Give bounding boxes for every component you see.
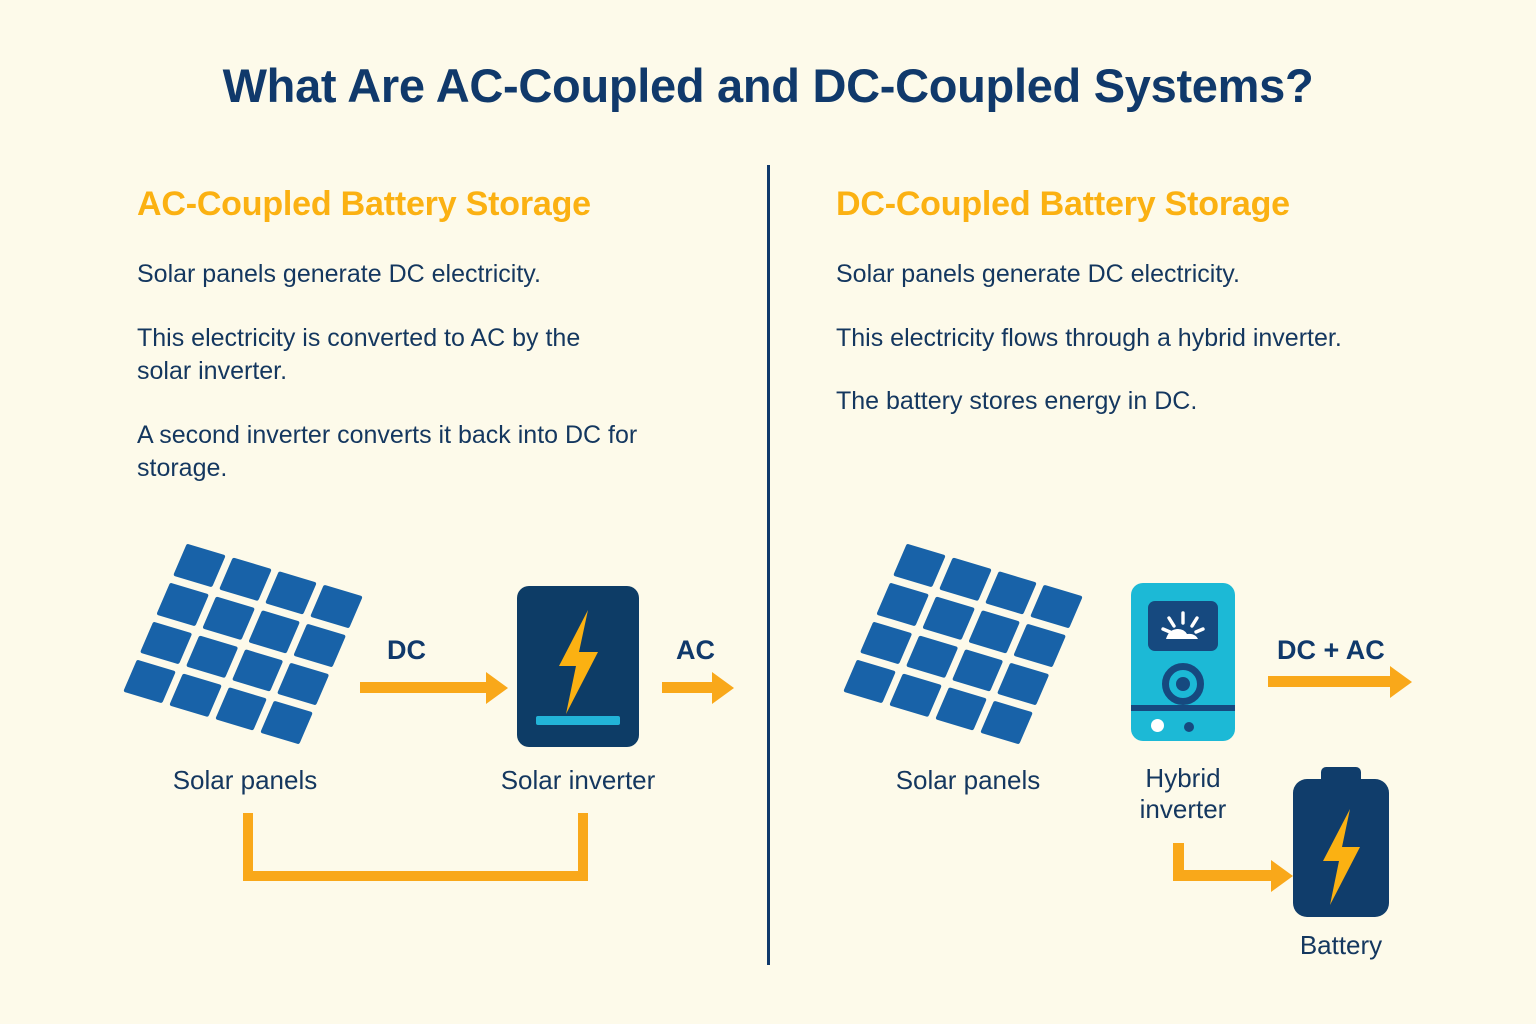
ac-solar-panel-icon xyxy=(155,570,331,718)
inverter-divider-line xyxy=(1131,705,1235,711)
ac-paragraph-2: This electricity is converted to AC by t… xyxy=(137,322,637,389)
lightning-bolt-icon xyxy=(1314,809,1368,905)
ac-paragraph-1: Solar panels generate DC electricity. xyxy=(137,258,657,292)
solar-cell xyxy=(1014,624,1066,667)
solar-cell xyxy=(922,596,974,639)
sun-icon xyxy=(1148,601,1218,651)
solar-cell xyxy=(985,571,1037,614)
solar-cell xyxy=(877,582,929,625)
hybrid-inverter-label: Hybrid inverter xyxy=(1083,763,1283,825)
hybrid-inverter-icon xyxy=(1131,583,1235,741)
ac-feedback-bracket xyxy=(243,813,588,883)
solar-cell xyxy=(140,621,192,664)
dc-paragraph-2: This electricity flows through a hybrid … xyxy=(836,322,1388,356)
dc-column-heading: DC-Coupled Battery Storage xyxy=(836,185,1436,224)
solar-cell xyxy=(980,701,1032,744)
inverter-indicator-light-on xyxy=(1151,719,1164,732)
column-divider xyxy=(767,165,770,965)
dc-paragraph-1: Solar panels generate DC electricity. xyxy=(836,258,1356,292)
battery-icon xyxy=(1293,767,1389,917)
solar-cell xyxy=(843,660,895,703)
dc-flow-label: DC + AC xyxy=(1277,635,1385,666)
inverter-status-bar xyxy=(536,716,620,725)
solar-cell xyxy=(294,624,346,667)
solar-cell xyxy=(1030,585,1082,628)
lightning-bolt-icon xyxy=(549,610,607,714)
solar-cell xyxy=(997,662,1049,705)
solar-cell xyxy=(202,596,254,639)
dc-paragraph-3: The battery stores energy in DC. xyxy=(836,385,1356,419)
solar-cell xyxy=(265,571,317,614)
solar-cell xyxy=(939,557,991,600)
ac-column-heading: AC-Coupled Battery Storage xyxy=(137,185,737,224)
solar-cell xyxy=(169,674,221,717)
solar-cell xyxy=(248,610,300,653)
inverter-dial-icon xyxy=(1162,663,1204,705)
solar-cell xyxy=(157,582,209,625)
solar-cell xyxy=(893,544,945,587)
solar-cell xyxy=(173,544,225,587)
inverter-indicator-light-off xyxy=(1184,722,1194,732)
ac-flow-label-dc: DC xyxy=(387,635,426,666)
solar-cell xyxy=(968,610,1020,653)
solar-cell xyxy=(889,674,941,717)
dc-arrow-to-battery xyxy=(1173,843,1303,893)
solar-cell xyxy=(860,621,912,664)
solar-cell xyxy=(123,660,175,703)
battery-label: Battery xyxy=(1241,930,1441,961)
solar-cell xyxy=(231,649,283,692)
solar-cell xyxy=(277,662,329,705)
ac-paragraph-3: A second inverter converts it back into … xyxy=(137,419,652,486)
solar-cell xyxy=(310,585,362,628)
solar-cell xyxy=(186,635,238,678)
solar-cell xyxy=(219,557,271,600)
solar-cell xyxy=(260,701,312,744)
ac-coupled-column: AC-Coupled Battery Storage Solar panels … xyxy=(137,185,737,486)
solar-inverter-label: Solar inverter xyxy=(470,765,686,796)
dc-coupled-column: DC-Coupled Battery Storage Solar panels … xyxy=(836,185,1436,419)
solar-inverter-icon xyxy=(517,586,639,747)
inverter-display-screen xyxy=(1148,601,1218,651)
page-title: What Are AC-Coupled and DC-Coupled Syste… xyxy=(0,58,1536,113)
ac-solar-panels-label: Solar panels xyxy=(145,765,345,796)
solar-cell xyxy=(215,687,267,730)
ac-flow-label-ac: AC xyxy=(676,635,715,666)
solar-cell xyxy=(951,649,1003,692)
dc-solar-panel-icon xyxy=(875,570,1051,718)
solar-cell xyxy=(906,635,958,678)
infographic-canvas: What Are AC-Coupled and DC-Coupled Syste… xyxy=(0,0,1536,1024)
dc-solar-panels-label: Solar panels xyxy=(868,765,1068,796)
solar-cell xyxy=(935,687,987,730)
